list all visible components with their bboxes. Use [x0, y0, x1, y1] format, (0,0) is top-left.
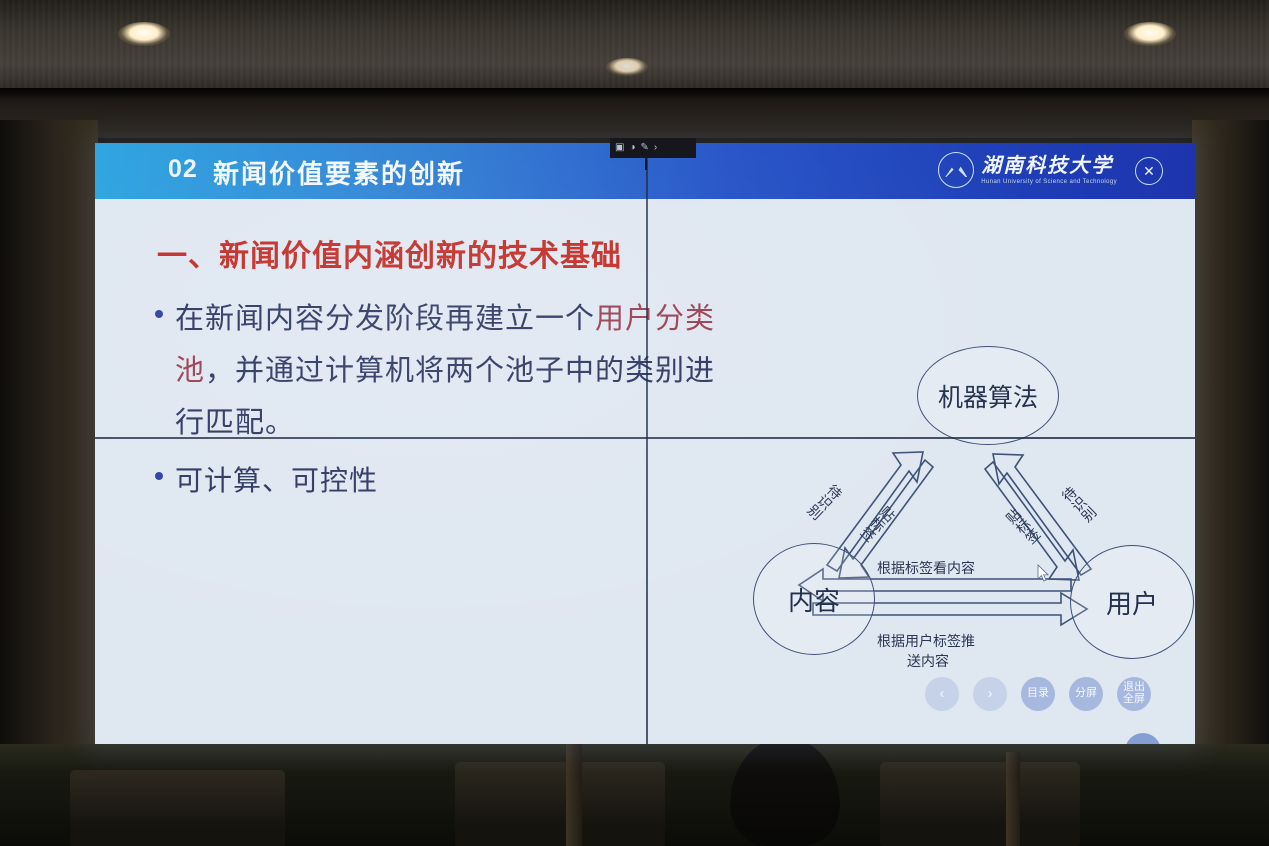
- chair: [880, 762, 1080, 846]
- diagram-node-content: 内容: [753, 543, 875, 655]
- slide-title: 新闻价值要素的创新: [213, 154, 465, 191]
- section-heading: 一、新闻价值内涵创新的技术基础: [157, 231, 622, 275]
- prev-button[interactable]: ‹: [925, 677, 959, 711]
- slide-section-number: 02: [168, 155, 198, 184]
- list-item: 可计算、可控性: [155, 455, 378, 507]
- exit-fullscreen-label-2: 全屏: [1123, 693, 1145, 705]
- exit-fullscreen-button[interactable]: 退出 全屏: [1117, 677, 1151, 711]
- edge-label-content-to-user-1: 根据用户标签推: [877, 631, 975, 651]
- edge-label-user-to-content: 根据标签看内容: [877, 558, 975, 578]
- bullet-text-1-a: 在新闻内容分发阶段再建立一个: [175, 303, 595, 335]
- mini-toolbar[interactable]: ▣ ◑ ✎ ›: [610, 138, 696, 158]
- diagram-node-user: 用户: [1070, 545, 1194, 659]
- scroll-up-icon[interactable]: ⌃: [1125, 733, 1161, 744]
- chair: [455, 762, 665, 846]
- chevron-right-icon[interactable]: ›: [654, 143, 657, 153]
- bullet-dot-icon: [155, 310, 163, 318]
- diagram-node-algorithm: 机器算法: [917, 346, 1059, 445]
- university-crest-icon: [938, 152, 974, 188]
- ceiling-light-left: [118, 22, 170, 46]
- wall-right: [1192, 120, 1269, 760]
- contents-button[interactable]: 目录: [1021, 677, 1055, 711]
- bullet-text-1: 在新闻内容分发阶段再建立一个用户分类池，并通过计算机将两个池子中的类别进行匹配。: [175, 293, 735, 449]
- soffit-shadow: [0, 88, 1269, 100]
- list-item: 在新闻内容分发阶段再建立一个用户分类池，并通过计算机将两个池子中的类别进行匹配。: [155, 293, 735, 449]
- lecture-room-photo: 02 新闻价值要素的创新 湖南科技大学 Hunan University of …: [0, 0, 1269, 846]
- video-wall-screen[interactable]: 02 新闻价值要素的创新 湖南科技大学 Hunan University of …: [95, 143, 1195, 744]
- videowall-seam-vertical: [646, 143, 648, 744]
- university-name-en: Hunan University of Science and Technolo…: [981, 179, 1117, 185]
- university-logo: 湖南科技大学 Hunan University of Science and T…: [938, 152, 1117, 188]
- edge-label-content-to-user-2: 送内容: [907, 651, 949, 671]
- next-button[interactable]: ›: [973, 677, 1007, 711]
- chair: [70, 770, 285, 846]
- pin-icon[interactable]: ✎: [641, 143, 649, 153]
- bullet-text-1-b: ，并通过计算机将两个池子中的类别进行匹配。: [175, 355, 715, 439]
- player-control-bar[interactable]: ‹ › 目录 分屏 退出 全屏: [925, 677, 1151, 711]
- ceiling: [0, 0, 1269, 92]
- cycle-diagram: 机器算法 内容 用户 待识别 贴标签 待识别 贴标签 根据标签看内容 根据用户标…: [695, 313, 1195, 713]
- university-name-cn: 湖南科技大学: [981, 156, 1117, 176]
- ceiling-light-right: [1124, 22, 1176, 46]
- wall-left: [0, 120, 98, 760]
- videowall-seam-horizontal: [95, 437, 1195, 439]
- exit-fullscreen-label-1: 退出: [1123, 681, 1145, 693]
- ceiling-light-center: [606, 58, 648, 76]
- close-icon[interactable]: ✕: [1135, 157, 1163, 185]
- chair-post: [1006, 752, 1020, 846]
- screenshot-icon[interactable]: ▣: [615, 143, 624, 153]
- chair-post: [566, 740, 582, 846]
- split-screen-button[interactable]: 分屏: [1069, 677, 1103, 711]
- bullet-dot-icon: [155, 472, 163, 480]
- volume-icon[interactable]: ◑: [629, 143, 635, 153]
- mouse-cursor-icon: [1038, 565, 1050, 582]
- bullet-text-2: 可计算、可控性: [175, 455, 378, 507]
- mini-toolbar-tail: [645, 158, 647, 170]
